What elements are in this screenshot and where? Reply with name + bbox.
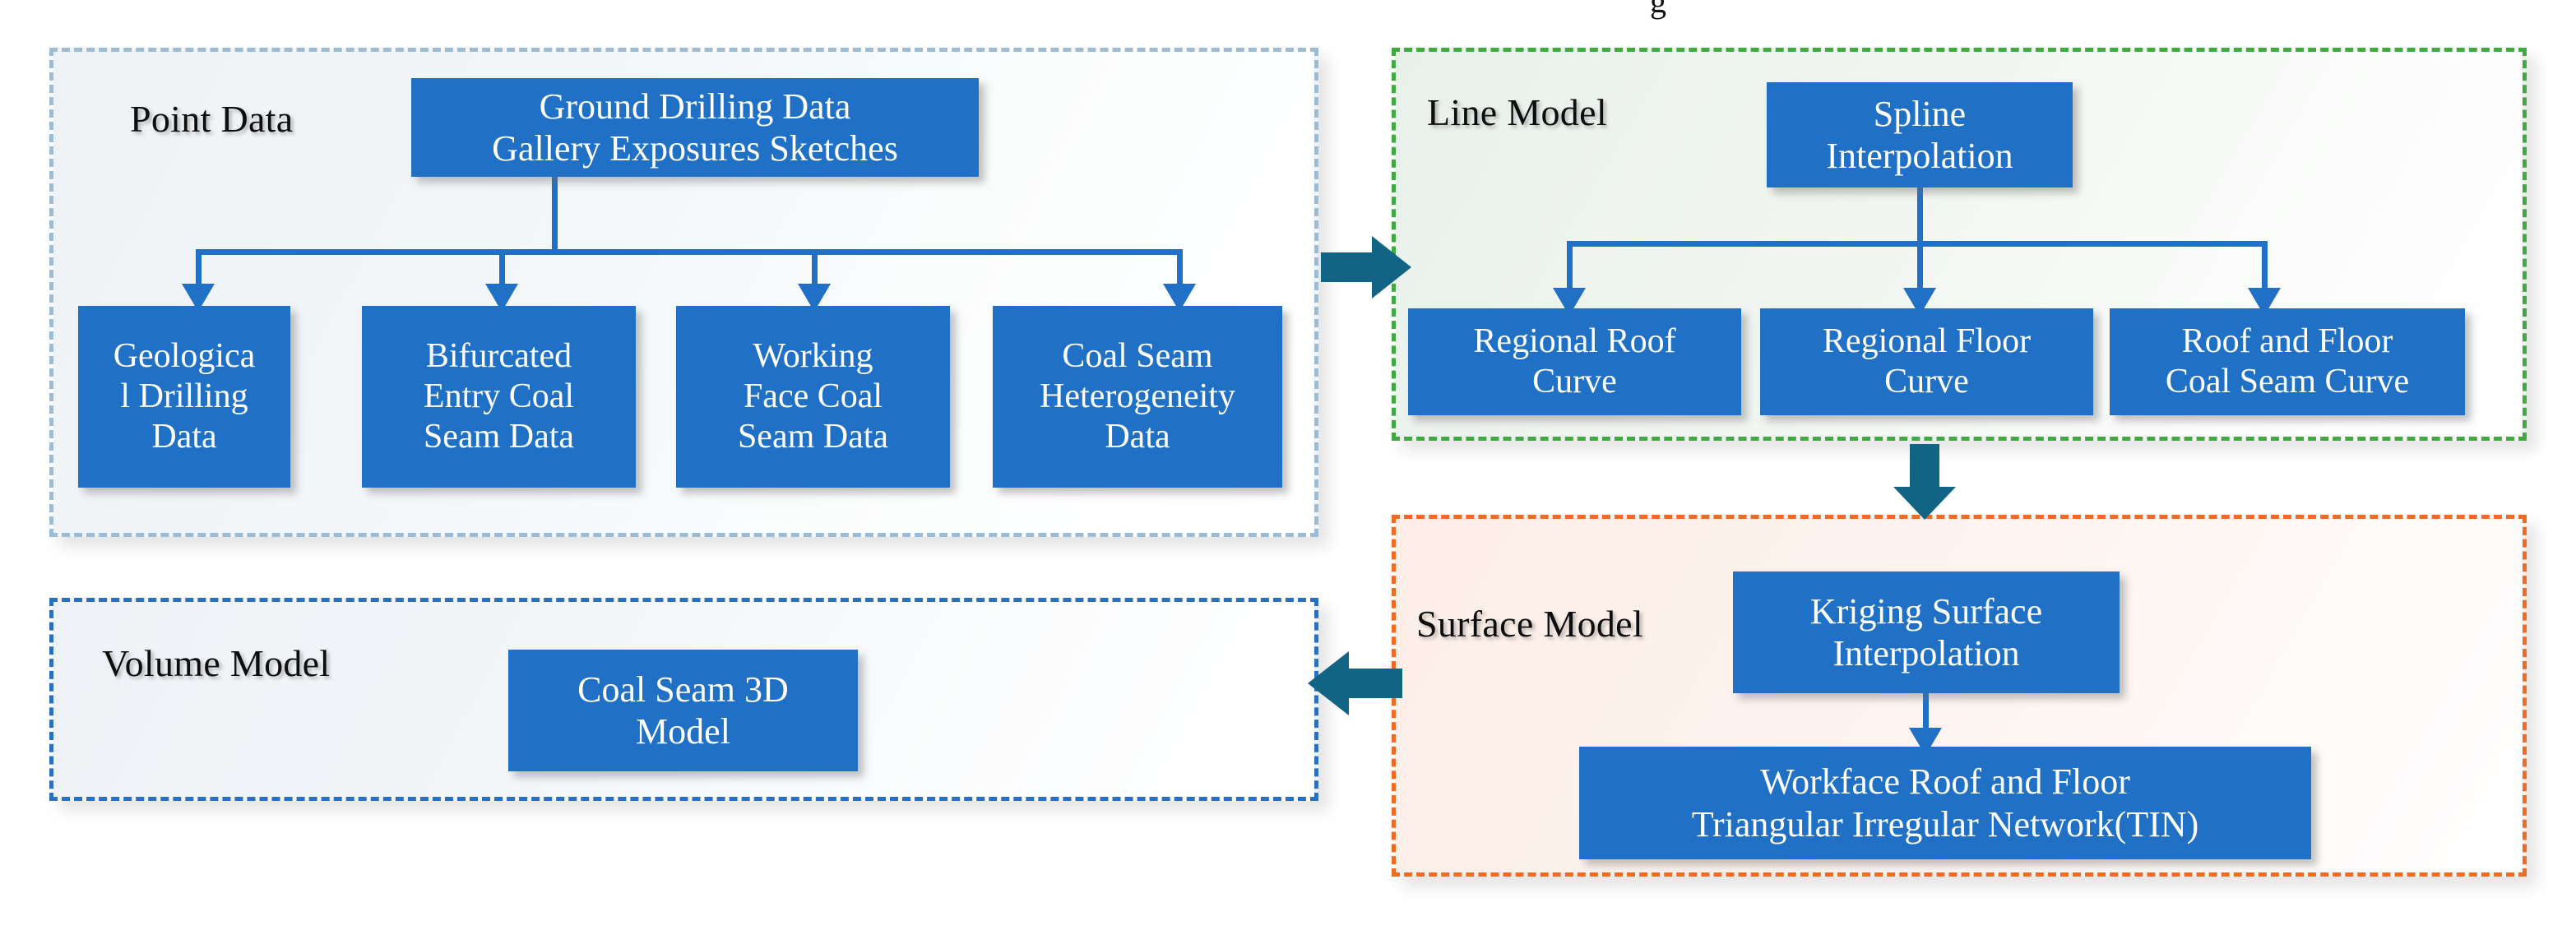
- cropped-title-glyph: g: [1650, 0, 1666, 21]
- connector-line-leg-3: [2262, 241, 2268, 293]
- flow-arrow-surface-to-volume: [1308, 650, 1402, 717]
- node-bifurcated-entry-coal-seam-data[interactable]: Bifurcated Entry Coal Seam Data: [362, 306, 636, 488]
- node-working-face-coal-seam-data[interactable]: Working Face Coal Seam Data: [676, 306, 950, 488]
- panel-label-line-model: Line Model: [1427, 90, 1607, 134]
- panel-label-surface-model: Surface Model: [1416, 602, 1643, 646]
- node-spline-interpolation[interactable]: Spline Interpolation: [1767, 82, 2073, 187]
- node-regional-roof-curve[interactable]: Regional Roof Curve: [1408, 308, 1741, 415]
- connector-line-bus: [1567, 241, 2268, 247]
- node-coal-seam-3d-model[interactable]: Coal Seam 3D Model: [508, 650, 858, 771]
- connector-point-root-stem: [552, 177, 558, 253]
- connector-point-leg-2: [499, 249, 505, 289]
- connector-point-leg-4: [1177, 249, 1183, 289]
- connector-line-leg-1: [1567, 241, 1573, 293]
- flow-arrow-point-to-line: [1321, 234, 1411, 300]
- flow-arrow-line-to-surface: [1892, 444, 1957, 520]
- panel-label-point-data: Point Data: [130, 97, 293, 141]
- flowchart-figure: g Point Data Ground Drilling Data Galler…: [0, 0, 2576, 944]
- connector-point-bus: [196, 249, 1183, 255]
- connector-point-leg-3: [812, 249, 818, 289]
- connector-line-root-stem: [1917, 187, 1923, 293]
- connector-surface-stem: [1923, 693, 1929, 733]
- node-ground-drilling-data[interactable]: Ground Drilling Data Gallery Exposures S…: [411, 78, 979, 177]
- node-regional-floor-curve[interactable]: Regional Floor Curve: [1760, 308, 2093, 415]
- connector-point-leg-1: [196, 249, 202, 289]
- node-roof-and-floor-coal-seam-curve[interactable]: Roof and Floor Coal Seam Curve: [2110, 308, 2465, 415]
- node-coal-seam-heterogeneity-data[interactable]: Coal Seam Heterogeneity Data: [993, 306, 1282, 488]
- node-kriging-surface-interpolation[interactable]: Kriging Surface Interpolation: [1733, 571, 2120, 693]
- node-geological-drilling-data[interactable]: Geologica l Drilling Data: [78, 306, 290, 488]
- panel-label-volume-model: Volume Model: [102, 641, 330, 685]
- node-workface-tin[interactable]: Workface Roof and Floor Triangular Irreg…: [1579, 747, 2311, 859]
